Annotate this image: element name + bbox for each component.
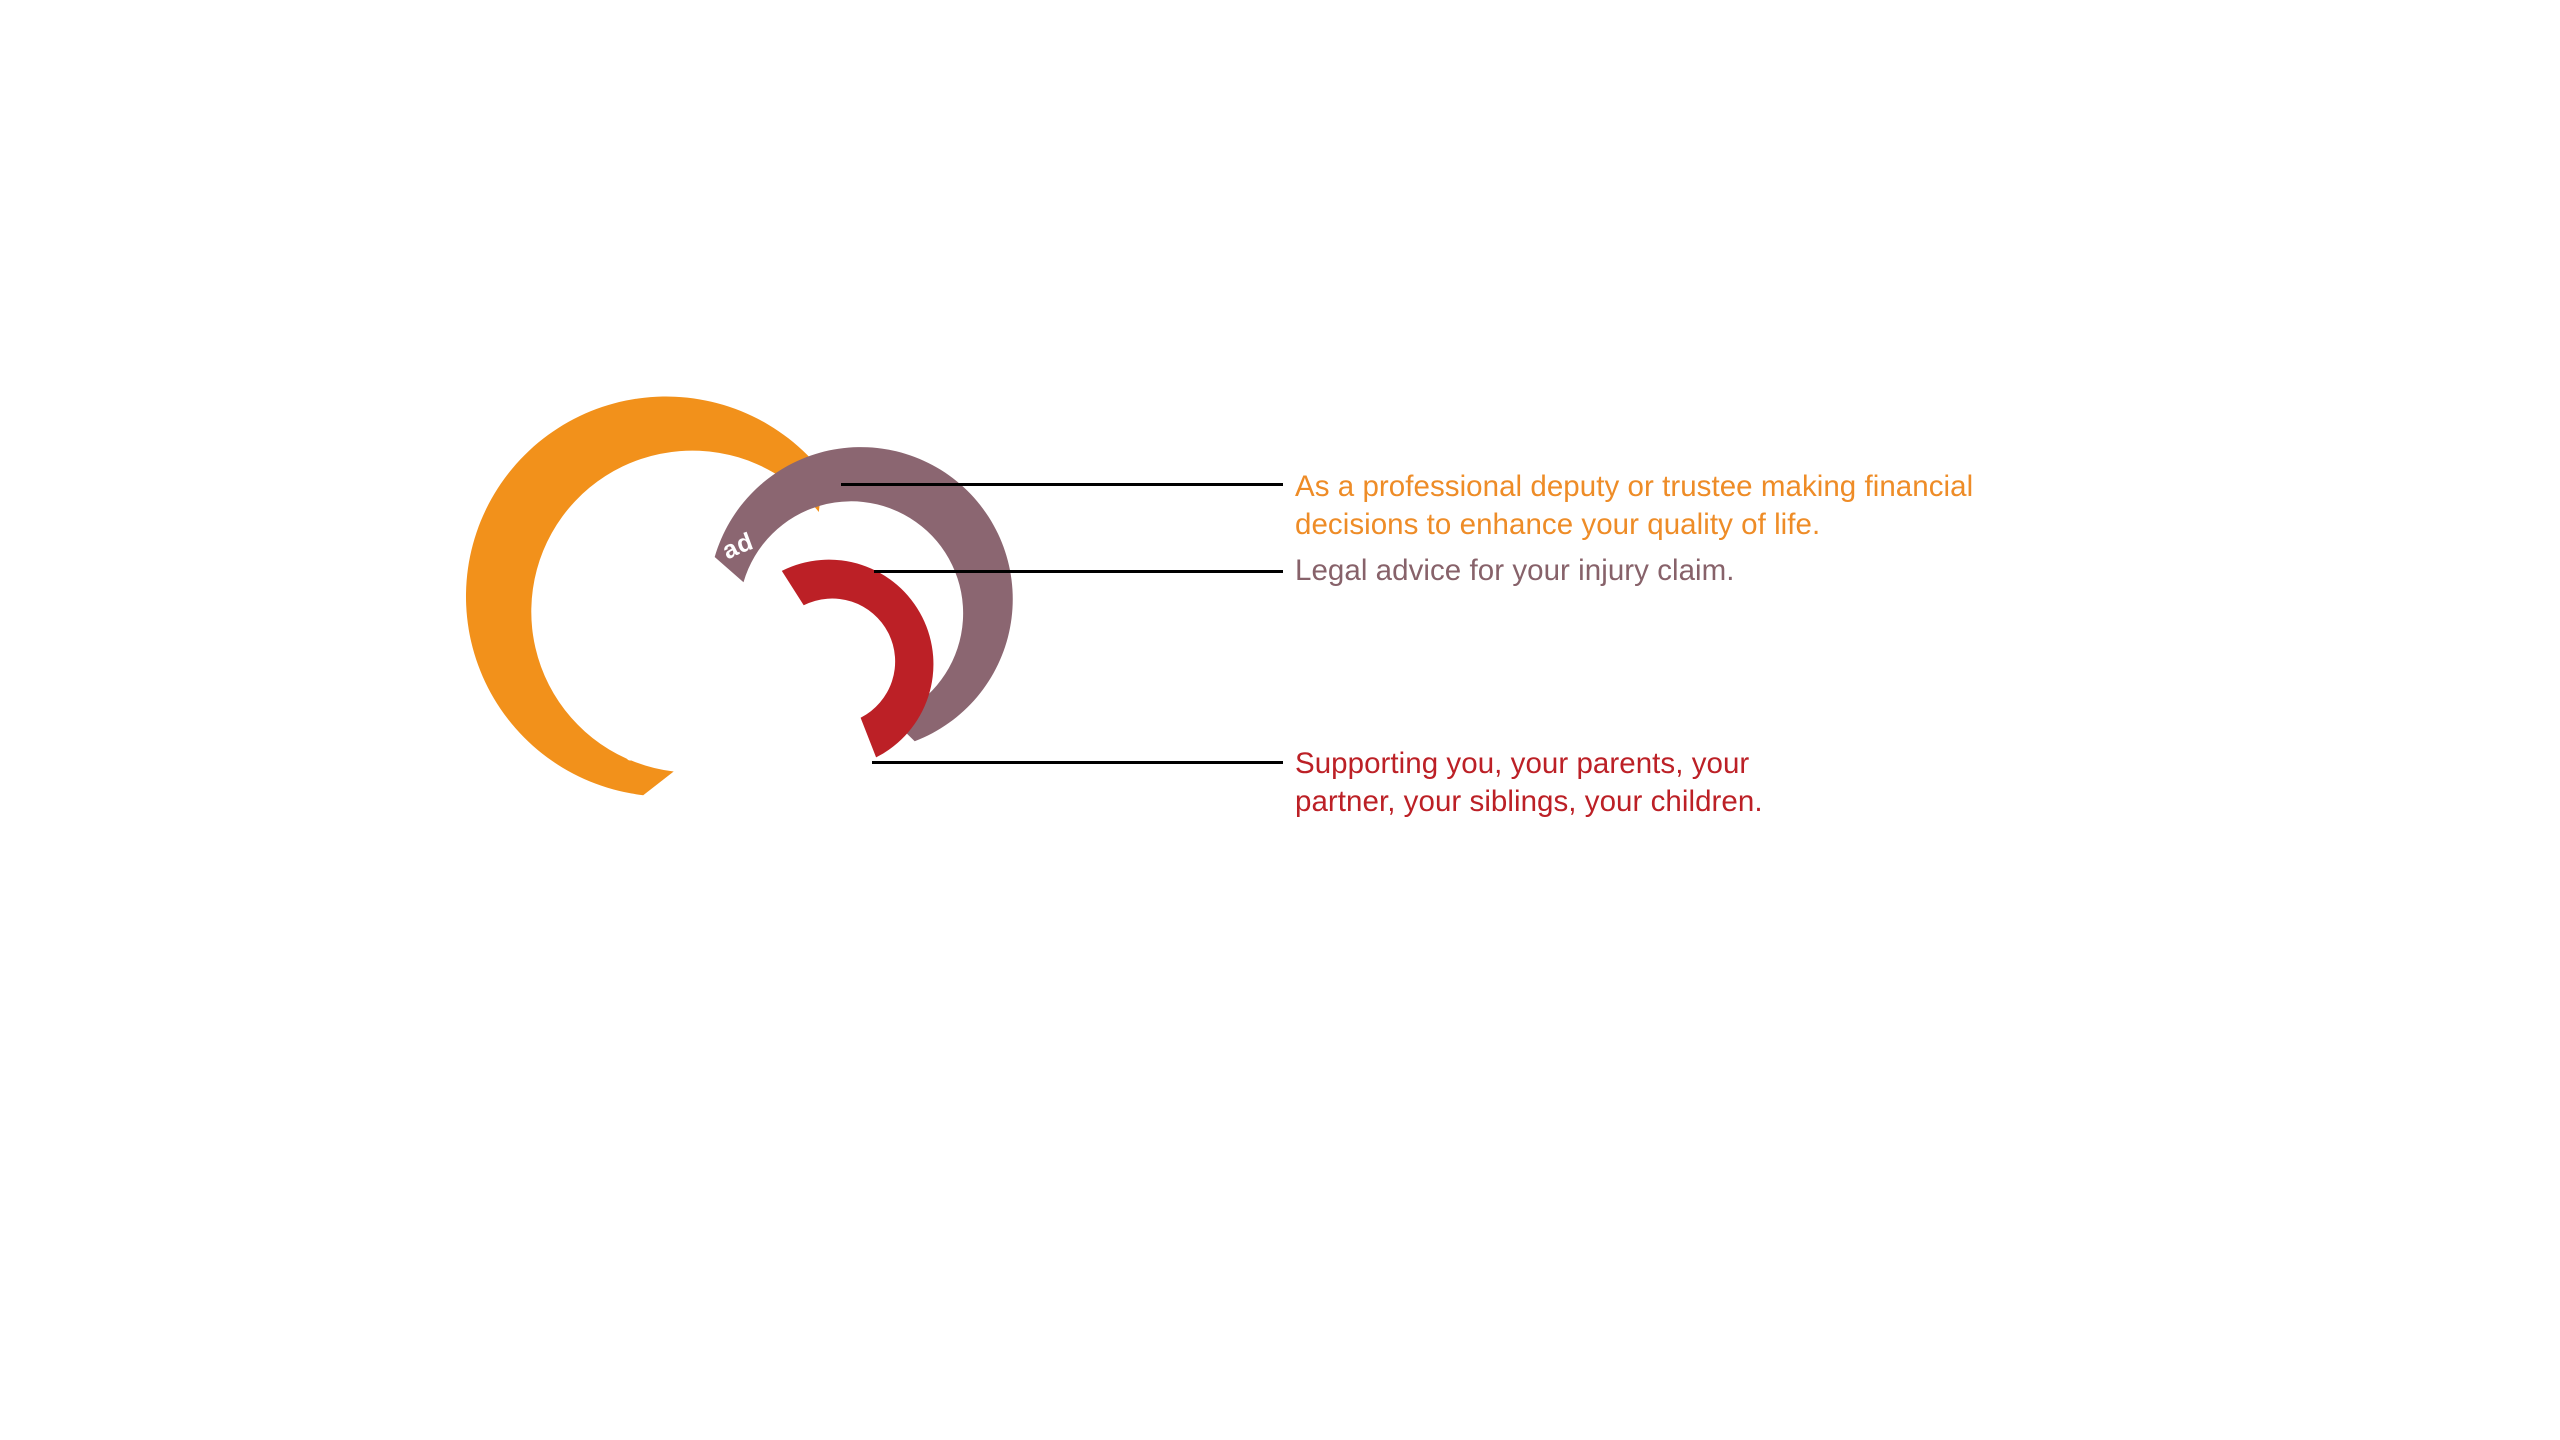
callout-deputy-trustee: As a professional deputy or trustee maki… [1295, 468, 2055, 544]
callout-family-support: Supporting you, your parents, your partn… [1295, 745, 1995, 821]
ring-inner-arc[interactable] [782, 560, 934, 758]
leader-line-inner [872, 761, 1283, 764]
leader-line-middle [874, 570, 1283, 573]
leader-line-outer [841, 483, 1283, 486]
ring-outer[interactable]: Post settlement legal advice [466, 397, 823, 796]
ring-diagram: Post settlement legal advice Injury and … [560, 440, 1080, 960]
diagram-canvas: Post settlement legal advice Injury and … [0, 0, 2560, 1440]
callout-injury-claim: Legal advice for your injury claim. [1295, 552, 2055, 590]
ring-inner[interactable]: Family advice [675, 560, 933, 758]
ring-outer-arc[interactable] [466, 397, 823, 796]
